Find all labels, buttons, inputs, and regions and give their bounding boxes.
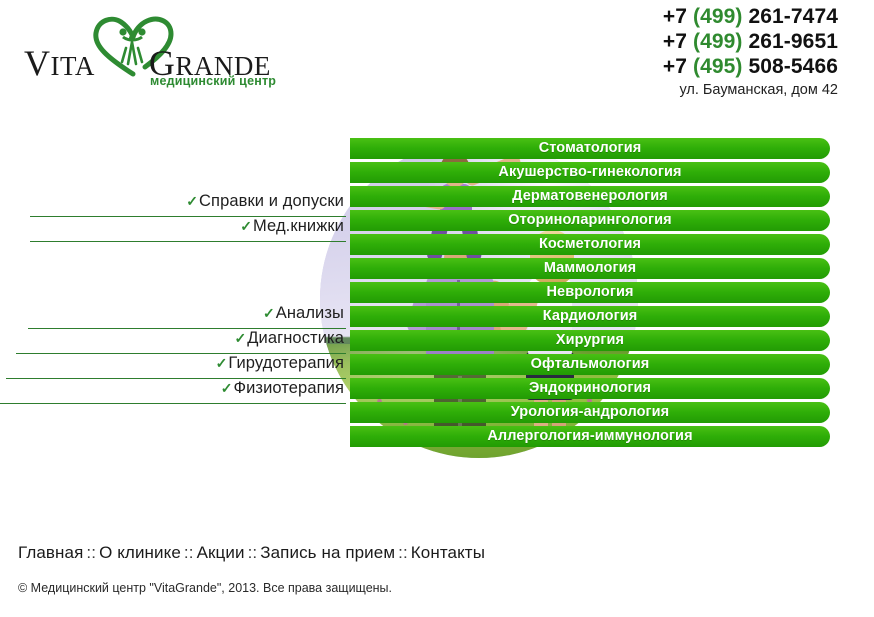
checklist-item-label: Гирудотерапия: [228, 354, 344, 372]
phone-3-area: (495): [693, 55, 743, 78]
nav-separator: ::: [248, 543, 258, 562]
service-button[interactable]: Косметология: [350, 234, 830, 255]
phone-3-prefix: +7: [663, 55, 693, 78]
checklist-item[interactable]: ✓Справки и допуски: [30, 192, 346, 217]
phone-2-prefix: +7: [663, 30, 693, 53]
service-button[interactable]: Стоматология: [350, 138, 830, 159]
checklist-item-label: Справки и допуски: [199, 192, 344, 210]
footer-navigation: Главная::О клинике::Акции::Запись на при…: [18, 543, 485, 563]
nav-separator: ::: [86, 543, 96, 562]
main-content: ✓Справки и допуски ✓Мед.книжки ✓Анализы …: [0, 112, 874, 482]
page-header: VITAGRANDE медицинский центр +7 (499) 26…: [0, 0, 874, 112]
service-button[interactable]: Урология-андрология: [350, 402, 830, 423]
check-icon: ✓: [235, 330, 247, 346]
checklist-item[interactable]: ✓Диагностика: [16, 329, 346, 354]
phone-2-area: (499): [693, 30, 743, 53]
nav-link-about[interactable]: О клинике: [99, 543, 181, 562]
nav-separator: ::: [398, 543, 408, 562]
checklist-item-label: Мед.книжки: [253, 217, 344, 235]
nav-link-appointment[interactable]: Запись на прием: [260, 543, 395, 562]
check-icon: ✓: [221, 380, 233, 396]
logo-tagline: медицинский центр: [150, 74, 276, 88]
service-button[interactable]: Эндокринология: [350, 378, 830, 399]
phone-1-prefix: +7: [663, 5, 693, 28]
service-button[interactable]: Кардиология: [350, 306, 830, 327]
service-button[interactable]: Оториноларингология: [350, 210, 830, 231]
contact-block: +7 (499) 261-7474 +7 (499) 261-9651 +7 (…: [418, 4, 838, 98]
services-list: Стоматология Акушерство-гинекология Дерм…: [350, 138, 830, 450]
phone-2-number: 261-9651: [743, 30, 838, 53]
checklist-item-label: Анализы: [276, 304, 344, 322]
check-icon: ✓: [216, 355, 228, 371]
check-icon: ✓: [263, 305, 275, 321]
service-button[interactable]: Маммология: [350, 258, 830, 279]
site-logo[interactable]: VITAGRANDE медицинский центр: [24, 12, 284, 94]
service-button[interactable]: Хирургия: [350, 330, 830, 351]
check-icon: ✓: [186, 193, 198, 209]
service-button[interactable]: Дерматовенерология: [350, 186, 830, 207]
checklist-item[interactable]: ✓Анализы: [28, 304, 346, 329]
clinic-address: ул. Бауманская, дом 42: [418, 82, 838, 98]
phone-number-2[interactable]: +7 (499) 261-9651: [418, 29, 838, 54]
checklist-item[interactable]: ✓Физиотерапия: [0, 379, 346, 404]
service-button[interactable]: Аллергология-иммунология: [350, 426, 830, 447]
nav-separator: ::: [184, 543, 194, 562]
service-button[interactable]: Неврология: [350, 282, 830, 303]
nav-link-contacts[interactable]: Контакты: [411, 543, 485, 562]
phone-3-number: 508-5466: [743, 55, 838, 78]
copyright-text: © Медицинский центр "VitaGrande", 2013. …: [18, 581, 392, 595]
logo-word-vita-rest: ITA: [51, 51, 95, 81]
page-footer: Главная::О клинике::Акции::Запись на при…: [18, 531, 858, 617]
checklist-item-label: Физиотерапия: [233, 379, 344, 397]
nav-link-promos[interactable]: Акции: [197, 543, 245, 562]
checklist-procedures: ✓Анализы ✓Диагностика ✓Гирудотерапия ✓Фи…: [0, 304, 346, 404]
checklist-item[interactable]: ✓Гирудотерапия: [6, 354, 346, 379]
checklist-documents: ✓Справки и допуски ✓Мед.книжки: [0, 192, 346, 242]
check-icon: ✓: [240, 218, 252, 234]
nav-link-home[interactable]: Главная: [18, 543, 83, 562]
logo-word-vita: V: [24, 43, 51, 83]
phone-1-area: (499): [693, 5, 743, 28]
phone-number-1[interactable]: +7 (499) 261-7474: [418, 4, 838, 29]
phone-number-3[interactable]: +7 (495) 508-5466: [418, 54, 838, 79]
service-button[interactable]: Офтальмология: [350, 354, 830, 375]
checklist-item[interactable]: ✓Мед.книжки: [30, 217, 346, 242]
phone-1-number: 261-7474: [743, 5, 838, 28]
checklist-item-label: Диагностика: [247, 329, 344, 347]
service-button[interactable]: Акушерство-гинекология: [350, 162, 830, 183]
